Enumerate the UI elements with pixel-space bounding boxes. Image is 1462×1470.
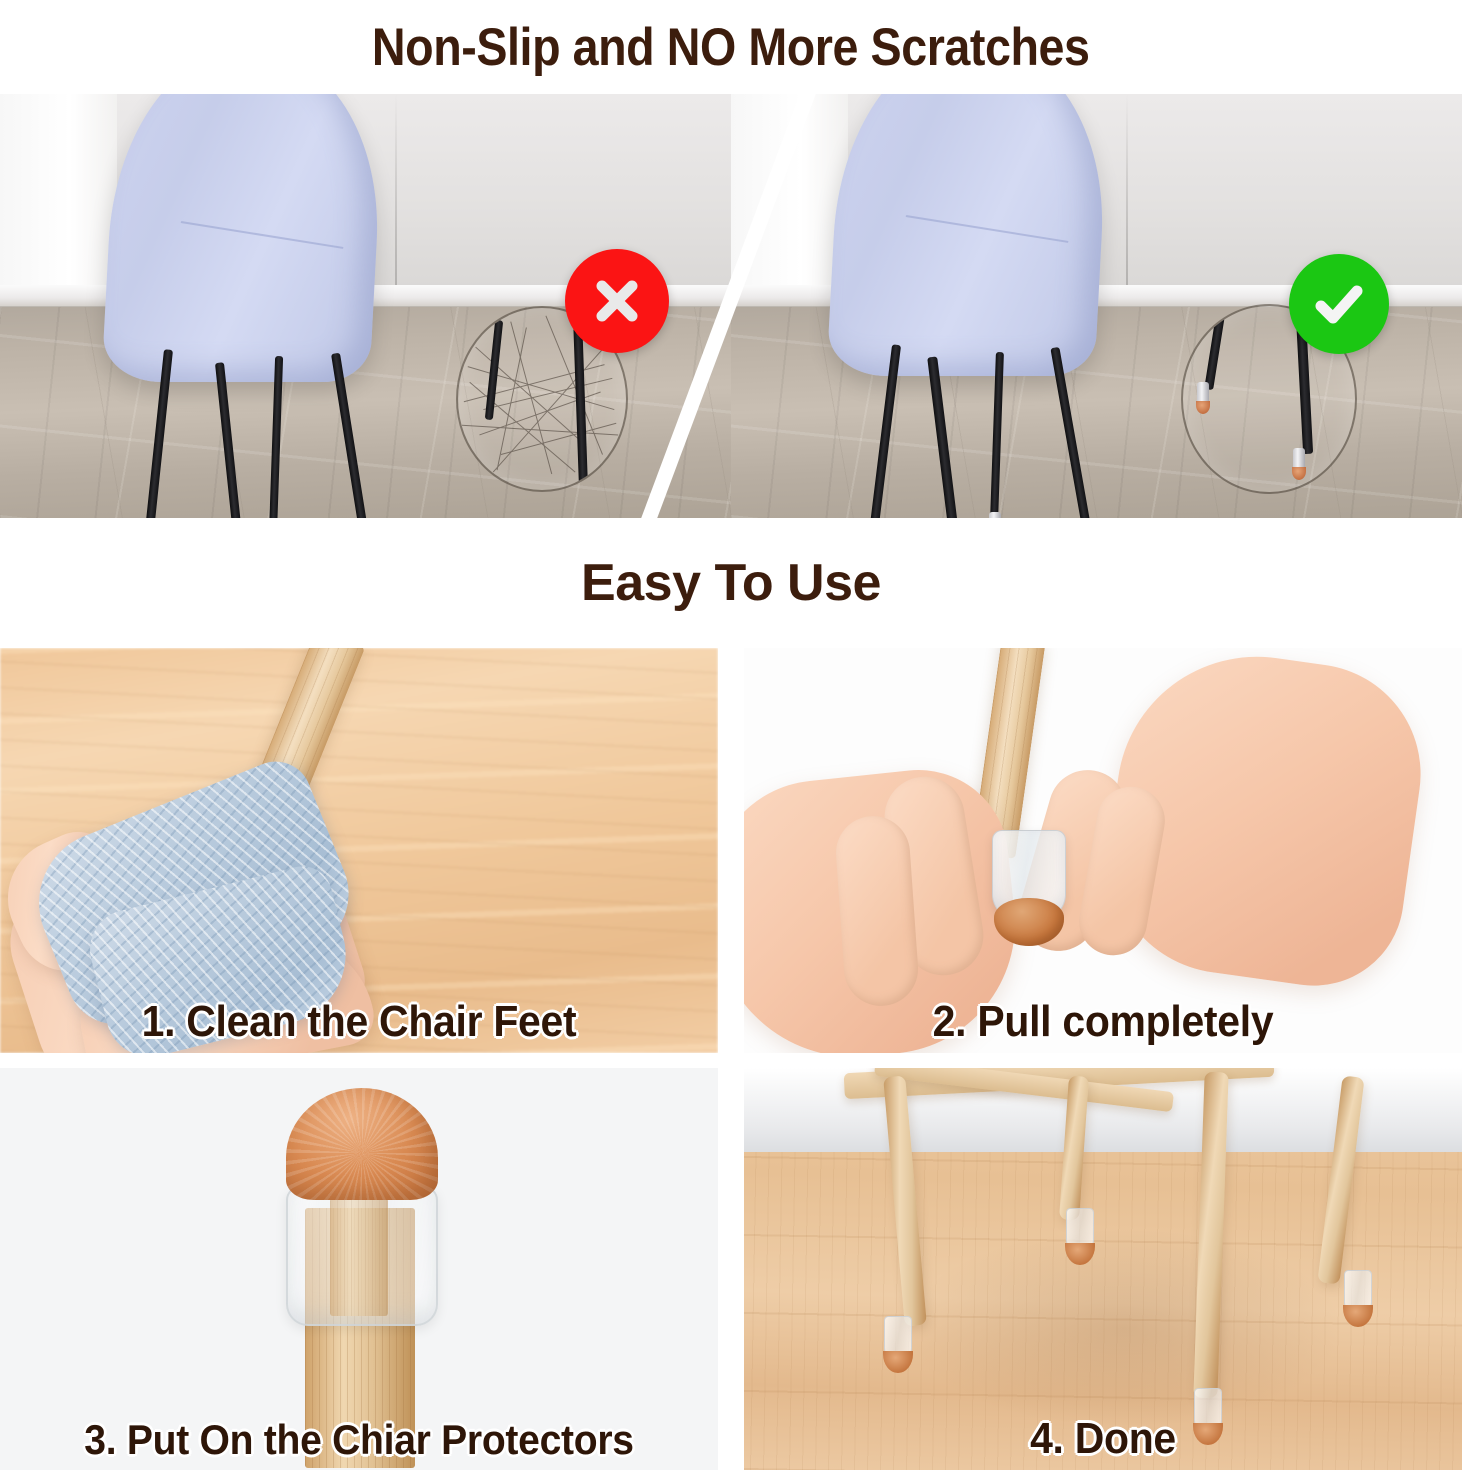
check-badge xyxy=(1289,254,1389,354)
title-bar: Non-Slip and NO More Scratches xyxy=(0,0,1462,94)
magnified-leg-protector-cap xyxy=(1197,382,1209,408)
step-caption-4: 4. Done xyxy=(769,1414,1437,1464)
leg-protector-cap xyxy=(989,512,1001,518)
steps-grid: 1. Clean the Chair Feet 2. Pull complete… xyxy=(0,648,1462,1470)
step-caption-3: 3. Put On the Chiar Protectors xyxy=(25,1416,693,1464)
leg-protector-cap xyxy=(884,1316,912,1362)
left-middle-finger xyxy=(833,814,920,1009)
step-caption-2: 2. Pull completely xyxy=(769,997,1437,1047)
hero-panel-good xyxy=(731,94,1462,518)
chair-shadow xyxy=(904,1228,1344,1428)
hero-panel-bad xyxy=(0,94,731,518)
chair-seat xyxy=(101,94,386,382)
magnified-leg-protector-cap xyxy=(1293,448,1305,474)
checkmark-icon xyxy=(1310,275,1368,333)
wall-highlight xyxy=(0,94,117,298)
cross-badge xyxy=(565,249,669,353)
step-panel-2: 2. Pull completely xyxy=(744,648,1462,1053)
leg-protector-cap xyxy=(1344,1270,1372,1316)
leg-seen-through-cap xyxy=(330,1198,388,1316)
section-heading-bar: Easy To Use xyxy=(0,518,1462,648)
step-panel-4: 4. Done xyxy=(744,1068,1462,1470)
page-title: Non-Slip and NO More Scratches xyxy=(372,21,1090,74)
section-title: Easy To Use xyxy=(581,557,881,609)
leg-protector-cap xyxy=(1066,1208,1094,1254)
wall-corner xyxy=(1126,94,1128,298)
step-panel-3: 3. Put On the Chiar Protectors xyxy=(0,1068,718,1470)
wall-corner xyxy=(395,94,397,298)
close-icon xyxy=(589,273,645,329)
comparison-hero xyxy=(0,94,1462,518)
chair-seat xyxy=(826,94,1111,376)
step-panel-1: 1. Clean the Chair Feet xyxy=(0,648,718,1053)
step-caption-1: 1. Clean the Chair Feet xyxy=(25,997,693,1047)
